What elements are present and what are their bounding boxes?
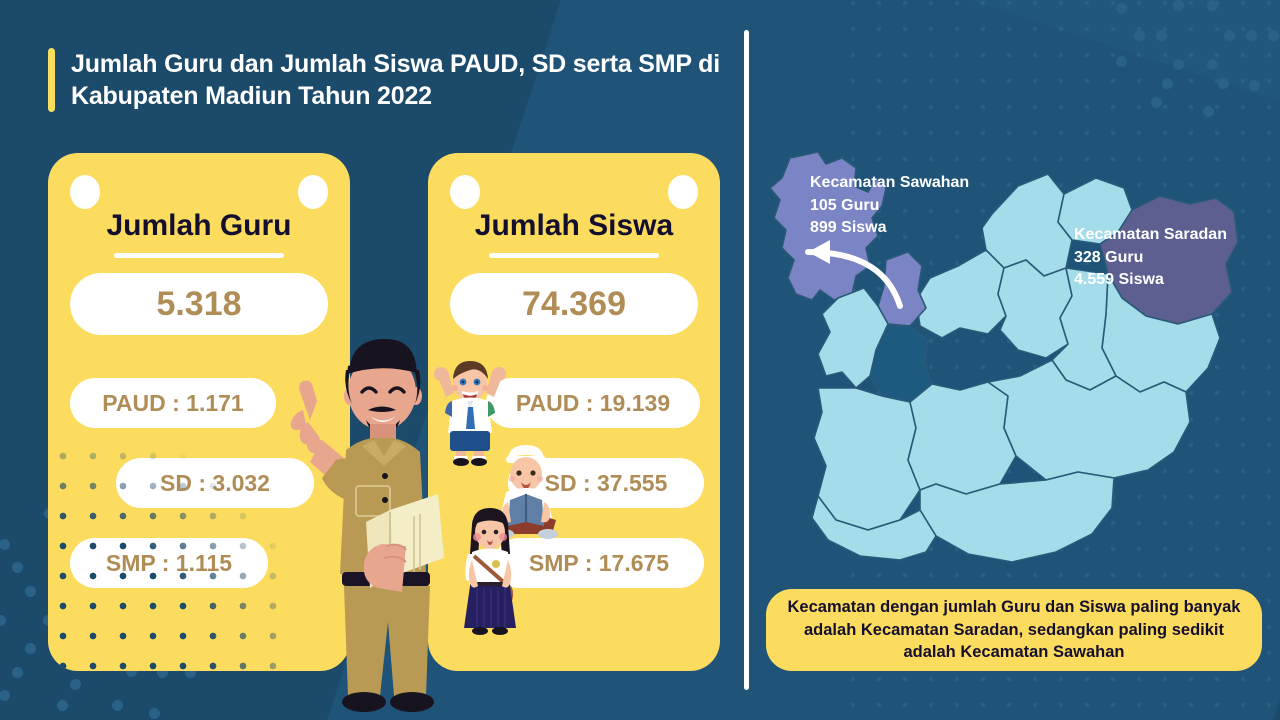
map-label-saradan-siswa: 4.559 Siswa [1074,269,1227,292]
map-label-saradan: Kecamatan Saradan 328 Guru 4.559 Siswa [1074,224,1227,292]
card-hole-right-icon [668,175,698,209]
map-district-west-southwest [814,388,920,530]
card-siswa-rule [489,253,659,258]
map-district-south-central [908,382,1016,494]
map-caption: Kecamatan dengan jumlah Guru dan Siswa p… [766,589,1262,671]
student-girl-illustration [444,502,536,636]
map-label-sawahan-siswa: 899 Siswa [810,217,969,240]
card-hole-right-icon [298,175,328,209]
map-label-sawahan-guru: 105 Guru [810,195,969,218]
title-accent-bar [48,48,55,112]
left-panel-title-text: Jumlah Guru dan Jumlah Siswa PAUD, SD se… [71,48,721,112]
card-guru-title: Jumlah Guru [48,209,350,243]
card-siswa-paud-value: PAUD : 19.139 [486,378,700,428]
card-hole-left-icon [450,175,480,209]
card-siswa-total-value: 74.369 [450,273,698,335]
map-label-sawahan: Kecamatan Sawahan 105 Guru 899 Siswa [810,172,969,240]
card-guru-rule [114,253,284,258]
card-guru-smp-value: SMP : 1.115 [70,538,268,588]
left-panel-title: Jumlah Guru dan Jumlah Siswa PAUD, SD se… [48,48,721,112]
map-label-sawahan-name: Kecamatan Sawahan [810,172,969,195]
left-panel: Jumlah Guru dan Jumlah Siswa PAUD, SD se… [0,0,745,720]
map-label-saradan-guru: 328 Guru [1074,247,1227,270]
card-siswa-title: Jumlah Siswa [428,209,720,243]
map-label-saradan-name: Kecamatan Saradan [1074,224,1227,247]
map-district-small-purple-inline [878,252,926,326]
map-district-west-upper [916,250,1006,338]
card-hole-left-icon [70,175,100,209]
card-guru-paud-value: PAUD : 1.171 [70,378,276,428]
map-district-center-upper [998,260,1072,358]
